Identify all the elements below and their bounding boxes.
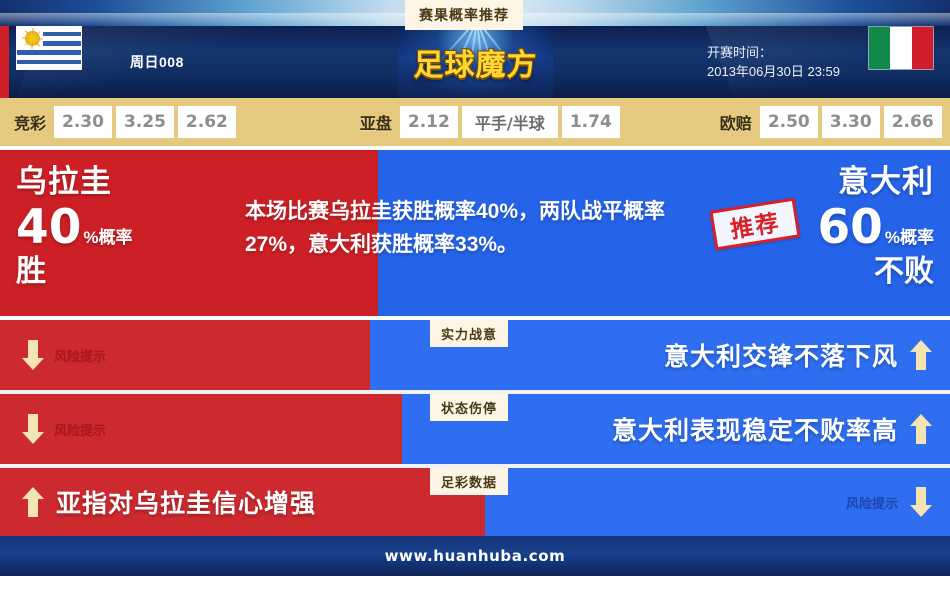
away-team-name: 意大利 bbox=[838, 164, 934, 199]
row1-headline-wrap: 意大利交锋不落下风 bbox=[664, 337, 932, 373]
section-badge-probability: 赛果概率推荐 bbox=[405, 0, 523, 30]
away-probability-value: 60 bbox=[817, 204, 882, 251]
odds-group-yapan: 亚盘 2.12 平手/半球 1.74 bbox=[360, 106, 624, 138]
probability-panel: 乌拉圭 40 %概率 胜 本场比赛乌拉圭获胜概率40%，两队战平概率27%，意大… bbox=[0, 150, 950, 316]
row3-headline: 亚指对乌拉圭信心增强 bbox=[56, 484, 316, 520]
home-team-name: 乌拉圭 bbox=[16, 164, 112, 199]
odds-group-jingcai: 竞彩 2.30 3.25 2.62 bbox=[14, 106, 240, 138]
kickoff-time: 开赛时间： 2013年06月30日 23:59 bbox=[707, 26, 840, 98]
odds-cell-jingcai-3[interactable]: 2.62 bbox=[178, 106, 236, 138]
bottom-padding bbox=[0, 576, 950, 594]
odds-label-yapan: 亚盘 bbox=[360, 110, 392, 134]
arrow-down-icon bbox=[22, 414, 44, 444]
site-logo[interactable]: 足球魔方 bbox=[398, 26, 553, 98]
home-probability-unit: %概率 bbox=[83, 229, 132, 246]
home-team-block: 乌拉圭 40 %概率 胜 bbox=[16, 166, 133, 287]
insight-rows: 实力战意 风险提示 意大利交锋不落下风 状态伤停 风险提示 意大利表现稳定不败率… bbox=[0, 320, 950, 536]
home-probability-value: 40 bbox=[16, 204, 81, 251]
odds-bar: 竞彩 2.30 3.25 2.62 亚盘 2.12 平手/半球 1.74 欧赔 … bbox=[0, 98, 950, 146]
odds-cell-oupei-2[interactable]: 3.30 bbox=[822, 106, 880, 138]
arrow-up-icon bbox=[22, 487, 44, 517]
match-number: 周日008 bbox=[130, 26, 184, 98]
kickoff-label: 开赛时间： bbox=[707, 43, 840, 62]
row1-risk-text: 风险提示 bbox=[54, 346, 106, 365]
row3-headline-wrap: 亚指对乌拉圭信心增强 bbox=[22, 484, 316, 520]
row3-risk-note: 风险提示 bbox=[846, 487, 932, 517]
odds-label-oupei: 欧赔 bbox=[720, 110, 752, 134]
row3-risk-text: 风险提示 bbox=[846, 493, 898, 512]
odds-cell-oupei-1[interactable]: 2.50 bbox=[760, 106, 818, 138]
uruguay-flag-icon bbox=[16, 26, 82, 70]
site-footer: www.huanhuba.com bbox=[0, 536, 950, 576]
kickoff-value: 2013年06月30日 23:59 bbox=[707, 62, 840, 81]
row2-tag: 状态伤停 bbox=[430, 394, 508, 421]
away-probability-unit: %概率 bbox=[885, 229, 934, 246]
arrow-up-icon bbox=[910, 340, 932, 370]
odds-cell-yapan-handicap[interactable]: 平手/半球 bbox=[462, 106, 558, 138]
odds-cell-yapan-2[interactable]: 1.74 bbox=[562, 106, 620, 138]
site-url[interactable]: www.huanhuba.com bbox=[385, 547, 566, 565]
row1-risk-note: 风险提示 bbox=[22, 340, 106, 370]
insight-row-strength[interactable]: 实力战意 风险提示 意大利交锋不落下风 bbox=[0, 320, 950, 390]
row2-headline: 意大利表现稳定不败率高 bbox=[612, 411, 898, 447]
row3-tag: 足彩数据 bbox=[430, 468, 508, 495]
logo-text: 足球魔方 bbox=[398, 40, 553, 84]
home-outcome-label: 胜 bbox=[16, 257, 133, 287]
header-red-accent bbox=[0, 26, 9, 98]
insight-row-form[interactable]: 状态伤停 风险提示 意大利表现稳定不败率高 bbox=[0, 394, 950, 464]
arrow-up-icon bbox=[910, 414, 932, 444]
away-outcome-label: 不败 bbox=[817, 257, 934, 287]
row1-headline: 意大利交锋不落下风 bbox=[664, 337, 898, 373]
away-team-block: 意大利 60 %概率 不败 bbox=[817, 166, 934, 287]
odds-label-jingcai: 竞彩 bbox=[14, 110, 46, 134]
odds-cell-yapan-1[interactable]: 2.12 bbox=[400, 106, 458, 138]
row1-tag: 实力战意 bbox=[430, 320, 508, 347]
insight-row-betting-data[interactable]: 足彩数据 亚指对乌拉圭信心增强 风险提示 bbox=[0, 468, 950, 536]
infographic-page: 周日008 开赛时间： 2013年06月30日 23:59 足球魔方 竞彩 2.… bbox=[0, 0, 950, 594]
row2-risk-text: 风险提示 bbox=[54, 420, 106, 439]
italy-flag-icon bbox=[868, 26, 934, 70]
probability-summary: 本场比赛乌拉圭获胜概率40%，两队战平概率27%，意大利获胜概率33%。 bbox=[245, 195, 675, 261]
odds-cell-jingcai-2[interactable]: 3.25 bbox=[116, 106, 174, 138]
arrow-down-icon bbox=[22, 340, 44, 370]
row2-headline-wrap: 意大利表现稳定不败率高 bbox=[612, 411, 932, 447]
odds-cell-jingcai-1[interactable]: 2.30 bbox=[54, 106, 112, 138]
odds-cell-oupei-3[interactable]: 2.66 bbox=[884, 106, 942, 138]
row2-risk-note: 风险提示 bbox=[22, 414, 106, 444]
odds-group-oupei: 欧赔 2.50 3.30 2.66 bbox=[720, 106, 946, 138]
arrow-down-icon bbox=[910, 487, 932, 517]
